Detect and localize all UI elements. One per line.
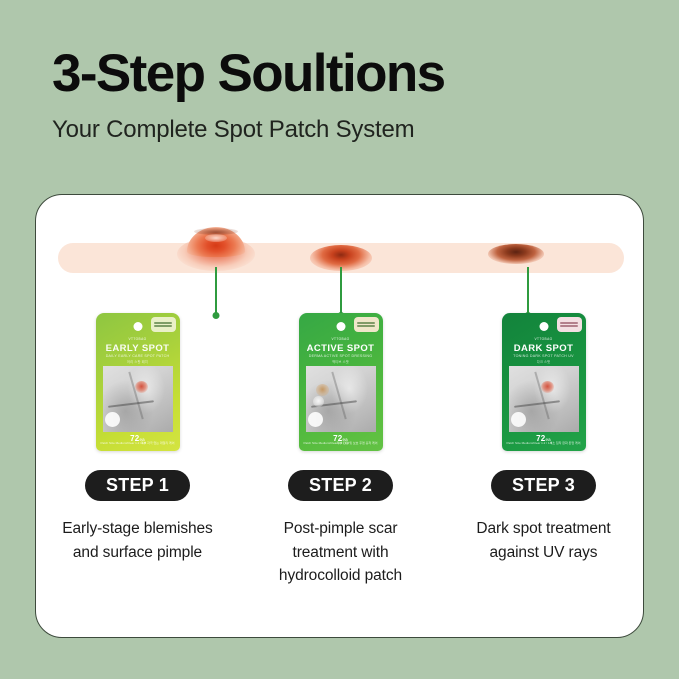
connector-line-step-3 [527,267,529,315]
step-description-3: Dark spot treatment against UV rays [460,517,628,564]
product-count-value: 72 [536,434,545,443]
step-badge-3: STEP 3 [491,470,596,501]
blemish-shine [205,234,227,242]
blemish-halo [488,244,544,264]
product-corner-badge: 하이드로 콜로이드 [354,317,379,332]
product-tagline: DAILY EARLY CARE SPOT PATCH [106,354,170,358]
product-pouch-dark-spot[interactable]: 자외선 차단 케어 VTTOBAG DARK SPOT TONING DARK … [502,313,586,451]
product-footnote-right: 색소 침착 완화 톤업 케어 [550,441,581,446]
step-badge-2: STEP 2 [288,470,393,501]
step-column-1: 필터링 스팟 패치 VTTOBAG EARLY SPOT DAILY EARLY… [36,313,239,588]
product-brand: VTTOBAG [535,337,553,341]
product-count-value: 72 [130,434,139,443]
step-column-3: 자외선 차단 케어 VTTOBAG DARK SPOT TONING DARK … [442,313,644,588]
corner-badge-line-2: 콜로이드 [357,325,375,327]
page-header: 3-Step Soultions Your Complete Spot Patc… [52,46,652,144]
product-corner-badge: 자외선 차단 케어 [557,317,582,332]
hang-hole-icon [133,322,142,331]
product-tagline: TONING DARK SPOT PATCH UV [513,354,574,358]
product-tagline-kr: 액티브 스팟 [332,359,349,364]
corner-badge-line-2: 스팟 패치 [154,325,172,327]
corner-badge-line-1: 자외선 [560,322,578,324]
product-pouch-early-spot[interactable]: 필터링 스팟 패치 VTTOBAG EARLY SPOT DAILY EARLY… [96,313,180,451]
product-seal-icon [105,412,120,427]
product-seal-icon [511,412,526,427]
face-blemish-mark [541,381,554,393]
corner-badge-line-1: 필터링 [154,322,172,324]
product-brand: VTTOBAG [332,337,350,341]
product-tagline-kr: 어리 스팟 패치 [127,359,148,364]
hang-hole-icon [336,322,345,331]
product-name: DARK SPOT [514,343,574,354]
steps-columns: 필터링 스팟 패치 VTTOBAG EARLY SPOT DAILY EARLY… [36,313,644,588]
step-description-2: Post-pimple scar treatment with hydrocol… [257,517,425,588]
product-corner-badge: 필터링 스팟 패치 [151,317,176,332]
corner-badge-line-1: 하이드로 [357,322,375,324]
step-badge-1: STEP 1 [85,470,190,501]
hang-hole-icon [539,322,548,331]
face-blemish-mark [135,381,148,393]
page-title: 3-Step Soultions [52,46,652,102]
product-tagline: DERMA ACTIVE SPOT DRESSING [309,354,373,358]
product-brand: VTTOBAG [129,337,147,341]
product-footnote-right: 피부 자극 없는 데일리 케어 [141,441,175,446]
connector-line-step-1 [215,267,217,315]
product-name: EARLY SPOT [106,343,170,354]
product-name: ACTIVE SPOT [307,343,375,354]
product-seal-icon [308,412,323,427]
connector-line-step-2 [340,267,342,315]
product-pouch-active-spot[interactable]: 하이드로 콜로이드 VTTOBAG ACTIVE SPOT DERMA ACTI… [299,313,383,451]
steps-card: 필터링 스팟 패치 VTTOBAG EARLY SPOT DAILY EARLY… [35,194,644,638]
product-footnote-right: 피부 진정 및 보호 후염 흡착 케어 [337,441,378,446]
product-tagline-kr: 다크 스팟 [537,359,551,364]
step-column-2: 하이드로 콜로이드 VTTOBAG ACTIVE SPOT DERMA ACTI… [239,313,442,588]
blemish-dark-pigment-spot [488,244,544,264]
corner-badge-line-2: 차단 케어 [560,325,578,327]
page-subtitle: Your Complete Spot Patch System [52,116,652,144]
step-description-1: Early-stage blemishes and surface pimple [54,517,222,564]
